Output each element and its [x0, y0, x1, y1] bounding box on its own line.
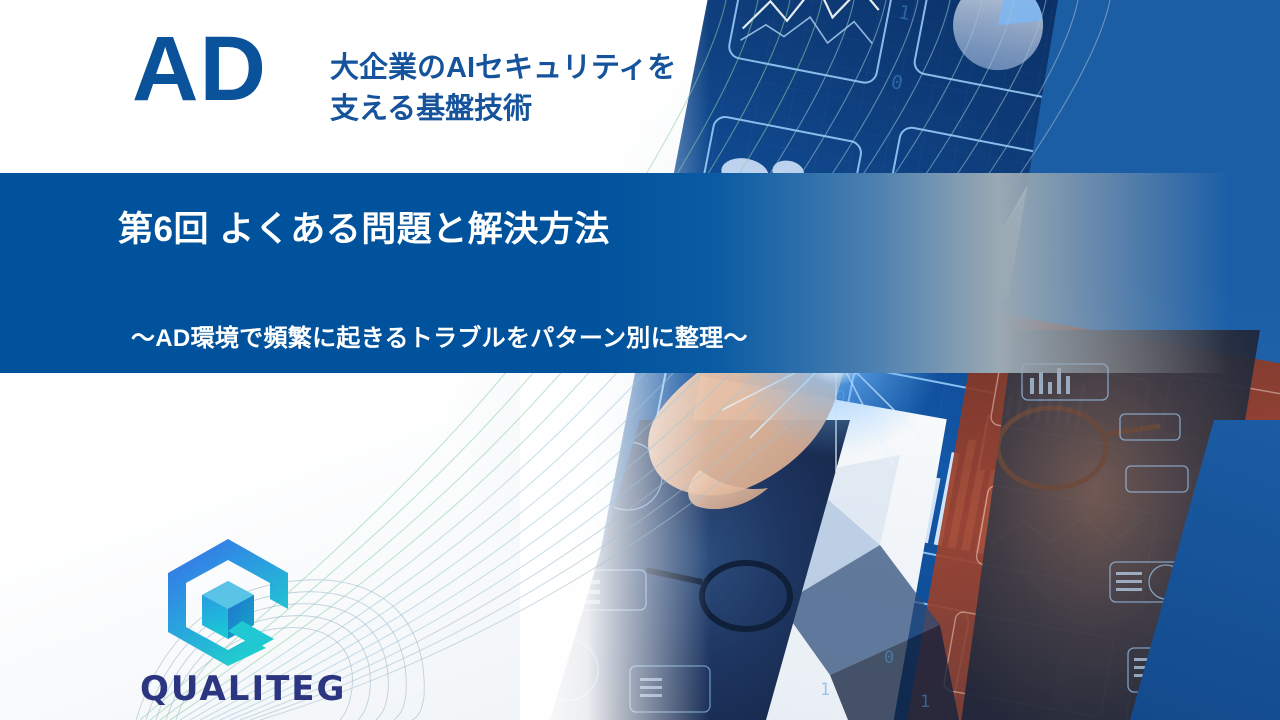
header-subtitle-line1: 大企業のAIセキュリティを [330, 48, 676, 89]
qualiteg-wordmark: QUALITEG [140, 669, 346, 709]
slide-root: 10 10 01 10 10 [0, 0, 1280, 720]
svg-text:1: 1 [897, 1, 912, 25]
svg-text:0: 0 [884, 648, 894, 668]
qualiteg-hexagon-q-icon [158, 535, 298, 670]
ad-mark: AD [132, 23, 267, 115]
svg-text:1: 1 [920, 692, 930, 712]
svg-text:0: 0 [889, 71, 904, 95]
header-subtitle-line2: 支える基盤技術 [330, 89, 676, 130]
header-subtitle: 大企業のAIセキュリティを 支える基盤技術 [330, 48, 676, 130]
svg-text:1: 1 [820, 680, 830, 700]
qualiteg-logo: QUALITEG [140, 535, 340, 710]
headline-title: 第6回 よくある問題と解決方法 [118, 201, 610, 252]
headline-subtitle: 〜AD環境で頻繁に起きるトラブルをパターン別に整理〜 [131, 318, 748, 353]
